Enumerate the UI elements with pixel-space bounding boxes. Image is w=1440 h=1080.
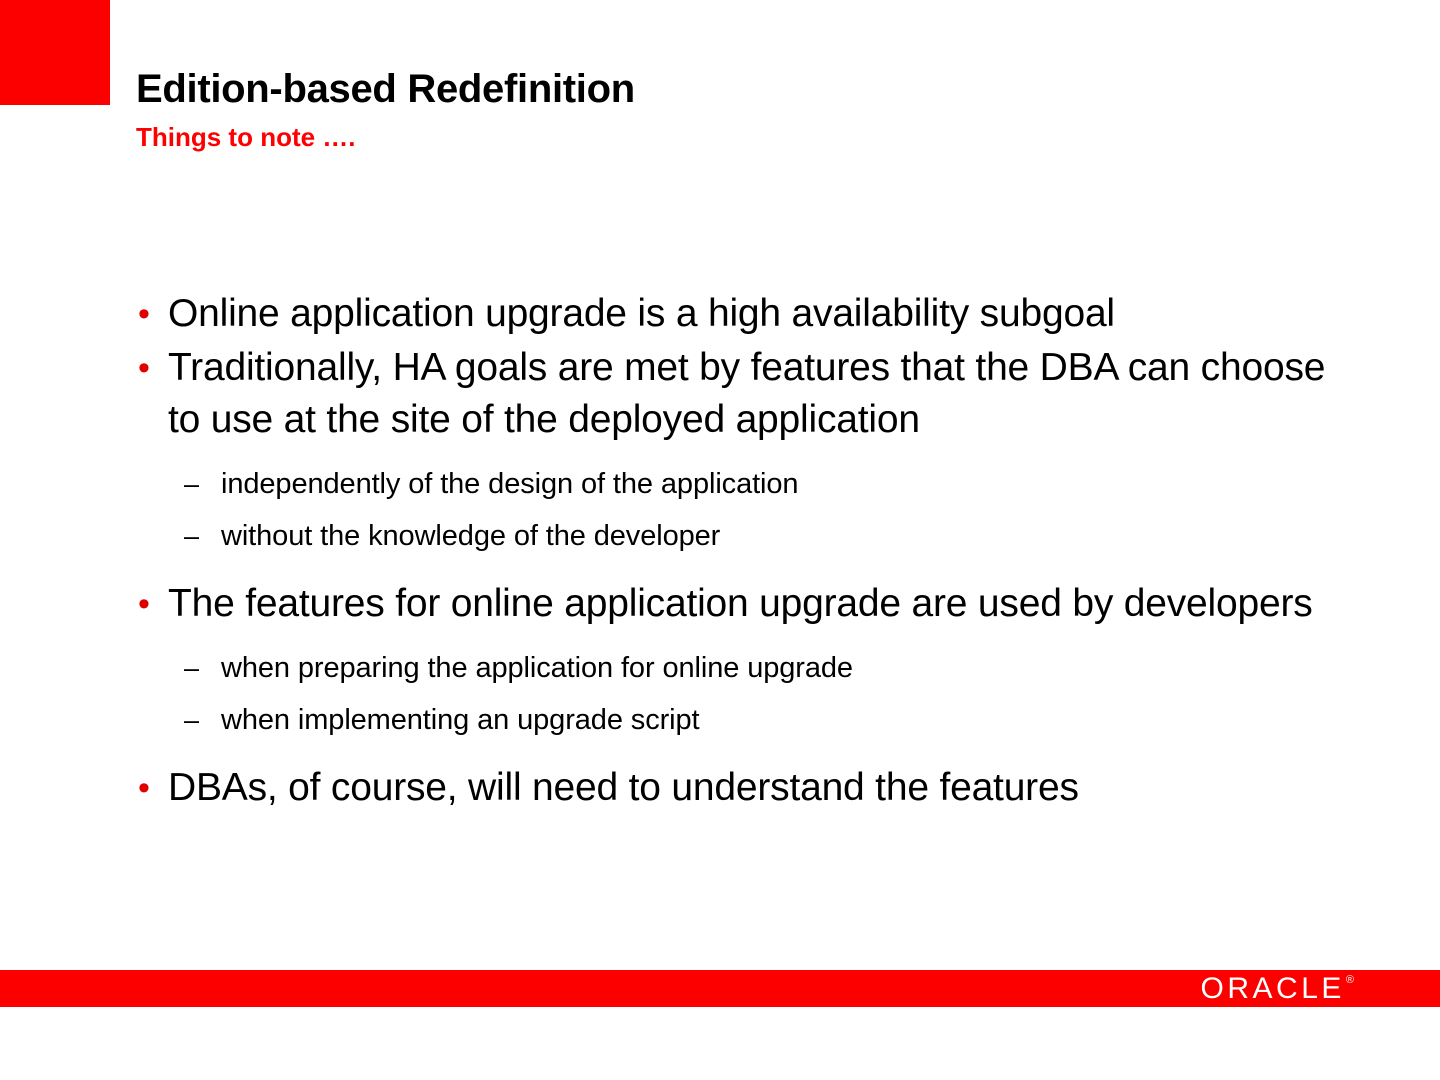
page-title: Edition-based Redefinition [136,68,1386,111]
bullet-dash-icon: – [184,510,221,562]
sub-list-item: – when implementing an upgrade script [184,694,1366,746]
bullet-dot-icon: • [136,288,168,340]
list-item-label: The features for online application upgr… [168,578,1366,630]
sub-list-item: – when preparing the application for onl… [184,642,1366,694]
list-item: • DBAs, of course, will need to understa… [136,762,1366,814]
list-item-label: DBAs, of course, will need to understand… [168,762,1366,814]
slide-body: • Online application upgrade is a high a… [136,288,1366,816]
spacer [136,632,1366,642]
registered-trademark-icon: ® [1346,975,1354,986]
presentation-slide: Edition-based Redefinition Things to not… [0,0,1440,1080]
bullet-dot-icon: • [136,578,168,630]
bullet-dash-icon: – [184,642,221,694]
list-item-label: Traditionally, HA goals are met by featu… [168,342,1366,446]
list-item-label: Online application upgrade is a high ava… [168,288,1366,340]
sub-list-item-label: when preparing the application for onlin… [221,642,1366,694]
list-item: • Traditionally, HA goals are met by fea… [136,342,1366,446]
sub-list-item-label: when implementing an upgrade script [221,694,1366,746]
oracle-wordmark: ORACLE [1201,974,1345,1004]
oracle-logo: ORACLE® [1201,974,1354,1004]
sub-list-item: – without the knowledge of the developer [184,510,1366,562]
sub-list-item-label: independently of the design of the appli… [221,458,1366,510]
page-subtitle: Things to note …. [136,123,1386,153]
sub-list-item: – independently of the design of the app… [184,458,1366,510]
decorative-red-corner-block [0,0,110,105]
list-item: • The features for online application up… [136,578,1366,630]
list-item: • Online application upgrade is a high a… [136,288,1366,340]
sub-list-item-label: without the knowledge of the developer [221,510,1366,562]
spacer [136,746,1366,762]
slide-header: Edition-based Redefinition Things to not… [136,68,1386,153]
spacer [136,562,1366,578]
bullet-dash-icon: – [184,694,221,746]
bullet-dot-icon: • [136,762,168,814]
bullet-dot-icon: • [136,342,168,394]
spacer [136,448,1366,458]
bullet-dash-icon: – [184,458,221,510]
